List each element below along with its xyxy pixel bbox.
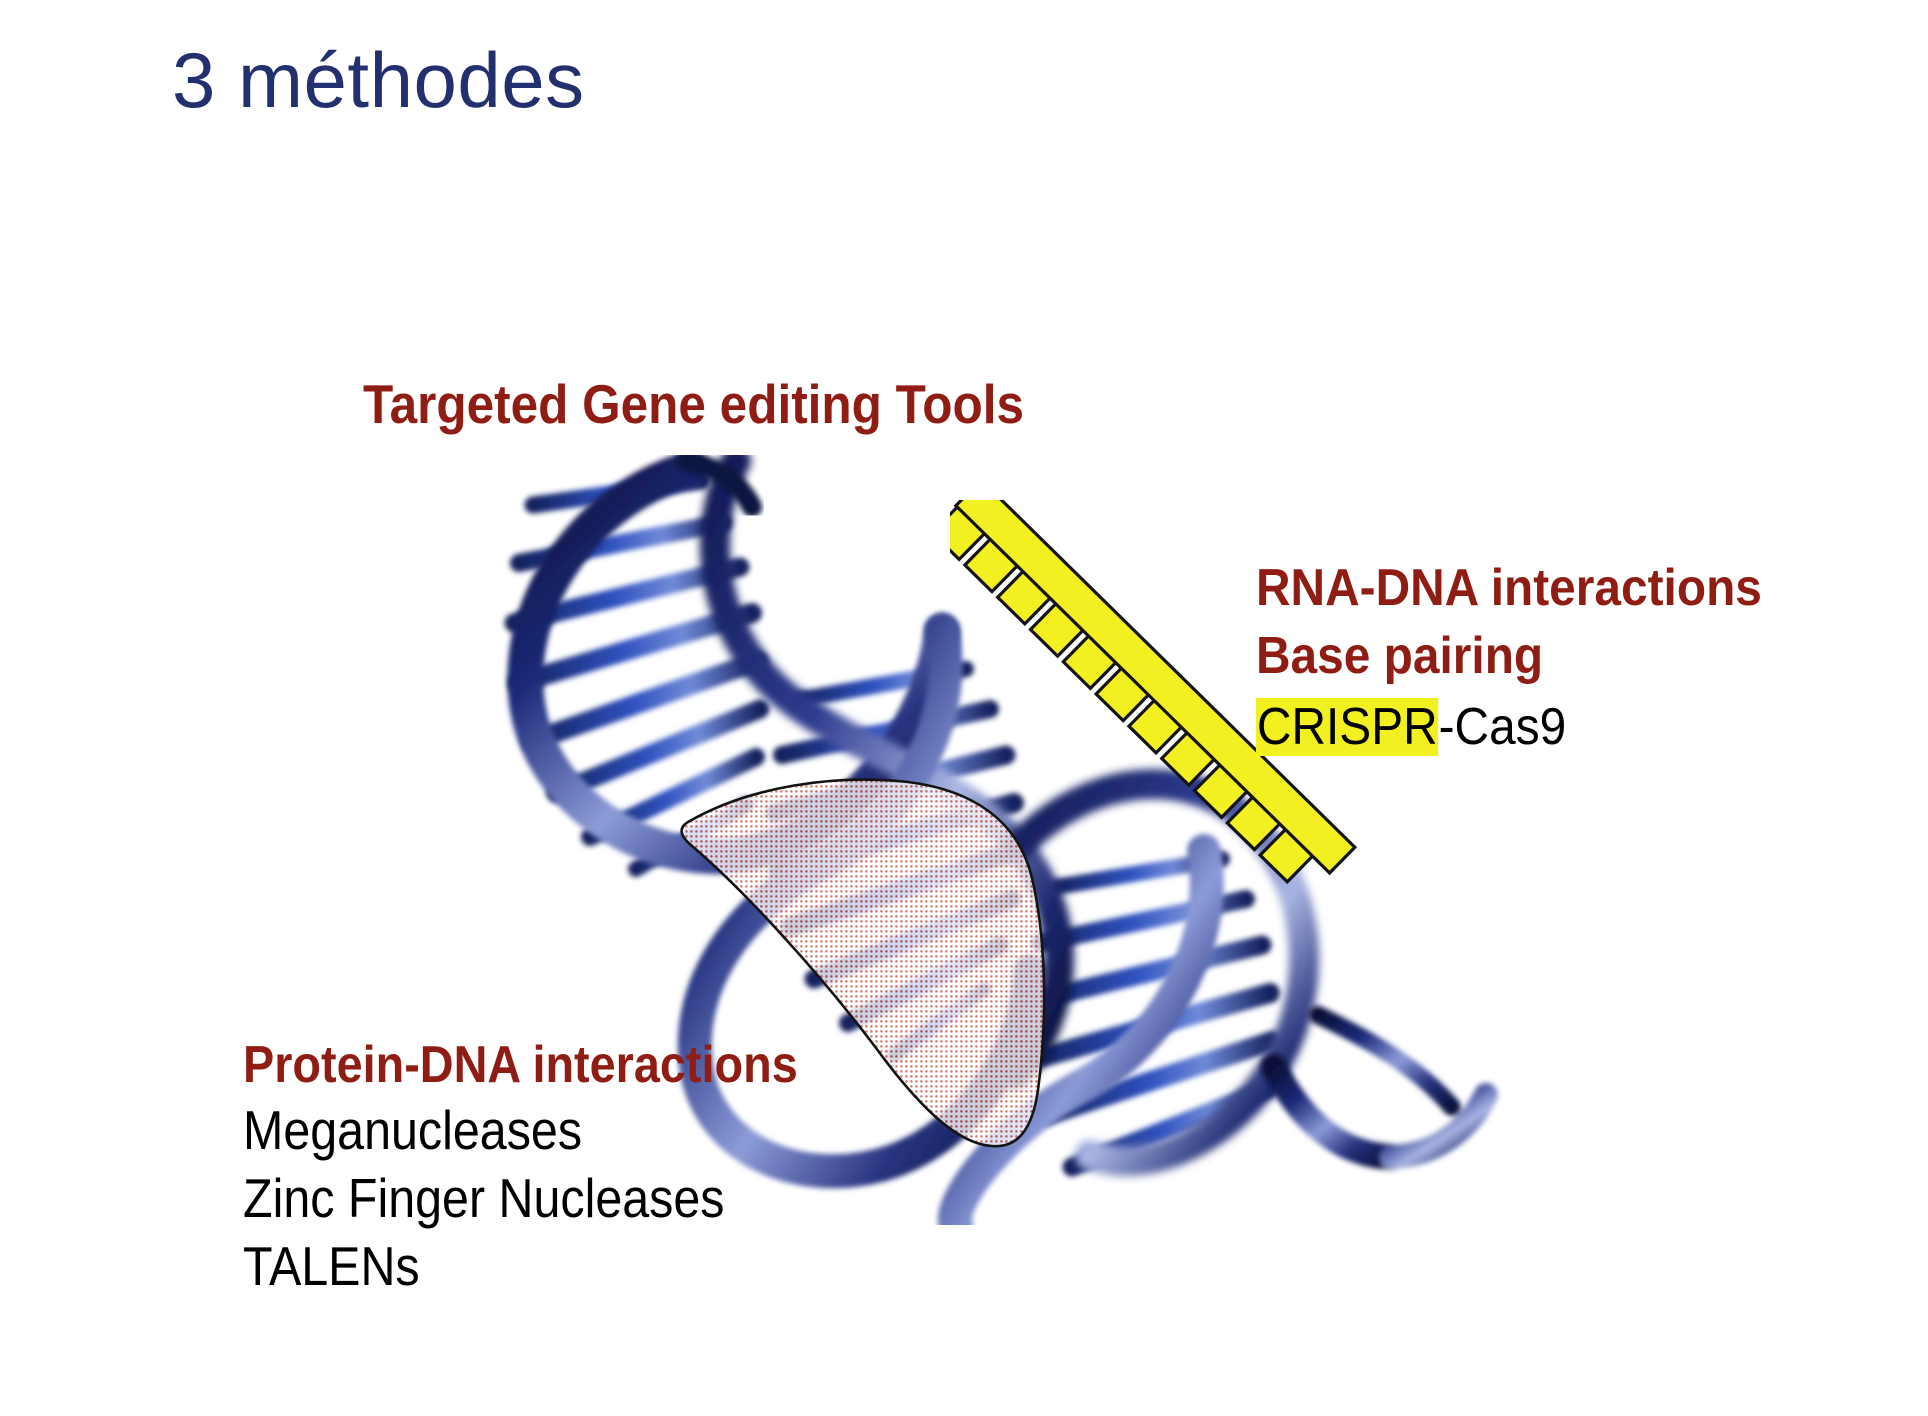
list-item: Zinc Finger Nucleases	[243, 1165, 785, 1233]
crispr-cas9-label: CRISPR-Cas9	[1256, 694, 1762, 762]
list-item: Meganucleases	[243, 1097, 785, 1165]
crispr-highlight: CRISPR	[1256, 698, 1439, 756]
protein-dna-interactions-label: Protein-DNA interactions	[243, 1034, 798, 1097]
base-pairing-label: Base pairing	[1256, 623, 1762, 691]
rna-dna-interactions-label: RNA-DNA interactions	[1256, 555, 1762, 623]
figure-heading: Targeted Gene editing Tools	[363, 372, 1024, 436]
page-title: 3 méthodes	[172, 38, 585, 124]
list-item: TALENs	[243, 1233, 785, 1301]
protein-annotation-block: Protein-DNA interactions Meganucleases Z…	[243, 1034, 859, 1300]
rna-annotation-block: RNA-DNA interactions Base pairing CRISPR…	[1256, 555, 1806, 762]
cas9-suffix: -Cas9	[1439, 698, 1567, 756]
slide-canvas: 3 méthodes	[0, 0, 1928, 1416]
